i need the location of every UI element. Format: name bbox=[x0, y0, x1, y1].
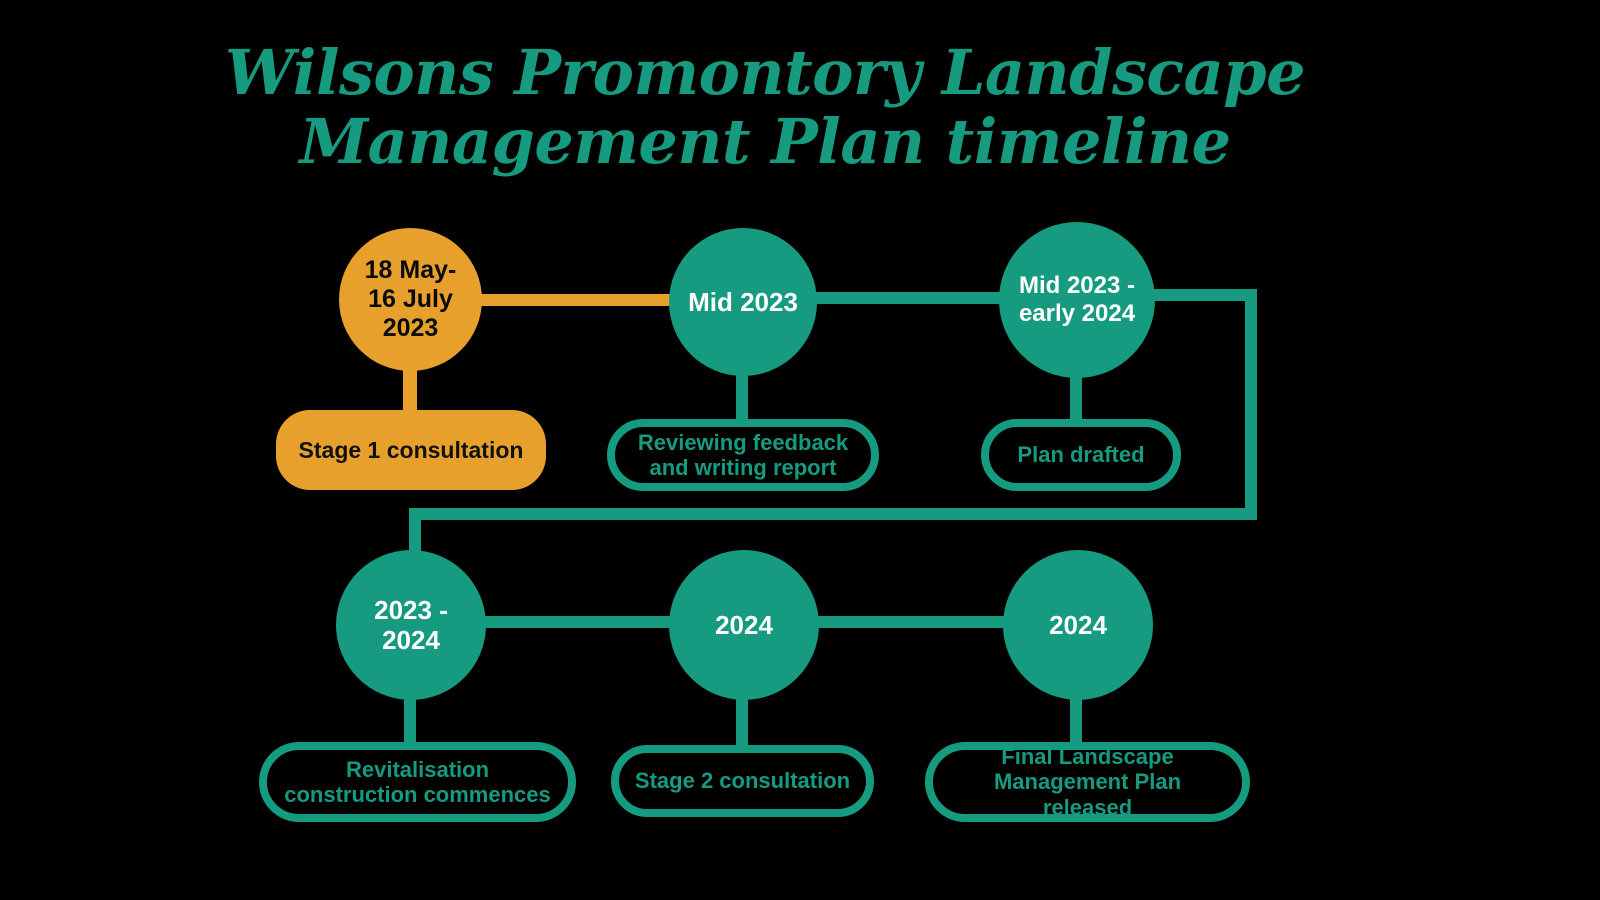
connector-step2-to-step3 bbox=[812, 292, 1027, 304]
step-1-date-line-2: 16 July bbox=[368, 285, 453, 313]
step-4-milestone-line-1: Revitalisation bbox=[346, 757, 489, 782]
step-1-date-line-3: 2023 bbox=[383, 314, 439, 342]
connector-row1-to-row2-horizontal bbox=[409, 508, 1257, 520]
page-title-line-1: Wilsons Promontory Landscape bbox=[0, 38, 1530, 107]
page-title: Wilsons Promontory Landscape Management … bbox=[0, 38, 1530, 177]
connector-row1-to-row2-vertical bbox=[1245, 289, 1257, 520]
step-5-milestone-label: Stage 2 consultation bbox=[621, 768, 864, 793]
step-2-date: Mid 2023 bbox=[678, 287, 808, 317]
timeline-circle-step-2[interactable]: Mid 2023 bbox=[669, 228, 817, 376]
step-3-date-line-2: early 2024 bbox=[1019, 300, 1135, 327]
step-1-milestone-label: Stage 1 consultation bbox=[285, 437, 538, 463]
timeline-milestone-step-2[interactable]: Reviewing feedback and writing report bbox=[607, 419, 879, 491]
step-5-date: 2024 bbox=[705, 610, 783, 640]
timeline-circle-step-6[interactable]: 2024 bbox=[1003, 550, 1153, 700]
step-6-milestone-line-2: Management Plan released bbox=[994, 769, 1181, 819]
timeline-circle-step-4[interactable]: 2023 - 2024 bbox=[336, 550, 486, 700]
timeline-milestone-step-3[interactable]: Plan drafted bbox=[981, 419, 1181, 491]
timeline-infographic: Wilsons Promontory Landscape Management … bbox=[0, 0, 1600, 900]
timeline-milestone-step-6[interactable]: Final Landscape Management Plan released bbox=[925, 742, 1250, 822]
page-title-line-2: Management Plan timeline bbox=[0, 107, 1530, 176]
step-4-milestone-line-2: construction commences bbox=[284, 782, 551, 807]
connector-step4-to-step5 bbox=[475, 616, 695, 628]
step-2-milestone-line-1: Reviewing feedback bbox=[638, 430, 848, 455]
step-6-milestone-line-1: Final Landscape bbox=[1001, 744, 1173, 769]
step-4-date-line-2: 2024 bbox=[382, 625, 440, 655]
step-1-date-line-1: 18 May- bbox=[365, 256, 457, 284]
timeline-circle-step-1[interactable]: 18 May- 16 July 2023 bbox=[339, 228, 482, 371]
timeline-milestone-step-4[interactable]: Revitalisation construction commences bbox=[259, 742, 576, 822]
timeline-milestone-step-1[interactable]: Stage 1 consultation bbox=[276, 410, 546, 490]
step-3-milestone-label: Plan drafted bbox=[1003, 442, 1158, 467]
timeline-circle-step-5[interactable]: 2024 bbox=[669, 550, 819, 700]
step-6-date: 2024 bbox=[1039, 610, 1117, 640]
step-3-date-line-1: Mid 2023 - bbox=[1019, 272, 1135, 299]
connector-step1-to-step2 bbox=[470, 294, 695, 306]
timeline-milestone-step-5[interactable]: Stage 2 consultation bbox=[611, 745, 874, 817]
connector-step5-to-step6 bbox=[810, 616, 1030, 628]
timeline-circle-step-3[interactable]: Mid 2023 - early 2024 bbox=[999, 222, 1155, 378]
step-2-milestone-line-2: and writing report bbox=[650, 455, 837, 480]
step-4-date-line-1: 2023 - bbox=[374, 595, 448, 625]
